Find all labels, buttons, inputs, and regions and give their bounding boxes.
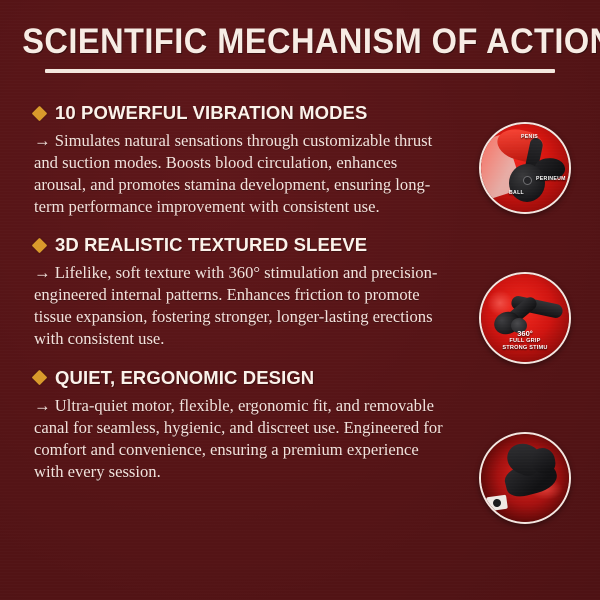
feature-list: 10 POWERFUL VIBRATION MODES → Simulates … <box>34 102 454 483</box>
product-photo-2: 360° FULL GRIP STRONG STIMU <box>479 272 571 364</box>
feature-body-3: → Ultra-quiet motor, flexible, ergonomic… <box>34 395 446 483</box>
feature-heading-row-1: 10 POWERFUL VIBRATION MODES <box>34 102 454 124</box>
arrow-icon-3: → <box>34 396 51 415</box>
feature-body-text-1: Simulates natural sensations through cus… <box>34 131 432 216</box>
photo-label-right: PERINEUM <box>536 176 566 182</box>
title-underline <box>45 69 555 73</box>
feature-item-2: 3D REALISTIC TEXTURED SLEEVE → Lifelike,… <box>34 234 454 350</box>
product-photo-1-artwork: PENIS BALL PERINEUM <box>481 124 569 212</box>
feature-title-3: QUIET, ERGONOMIC DESIGN <box>55 367 314 389</box>
feature-item-3: QUIET, ERGONOMIC DESIGN → Ultra-quiet mo… <box>34 367 454 483</box>
feature-item-1: 10 POWERFUL VIBRATION MODES → Simulates … <box>34 102 454 218</box>
photo-label-bottom-left: BALL <box>509 190 524 196</box>
photo-label-top: PENIS <box>521 134 538 140</box>
diamond-bullet-icon <box>32 105 48 121</box>
product-photo-2-artwork: 360° FULL GRIP STRONG STIMU <box>481 274 569 362</box>
photo-caption-line-2: FULL GRIP <box>481 338 569 345</box>
product-photo-1: PENIS BALL PERINEUM <box>479 122 571 214</box>
photo-caption-line-3: STRONG STIMU <box>481 345 569 352</box>
feature-body-text-3: Ultra-quiet motor, flexible, ergonomic f… <box>34 396 443 481</box>
arrow-icon-1: → <box>34 131 51 150</box>
feature-heading-row-3: QUIET, ERGONOMIC DESIGN <box>34 367 454 389</box>
feature-title-1: 10 POWERFUL VIBRATION MODES <box>55 102 367 124</box>
diamond-bullet-icon <box>32 370 48 386</box>
product-feature-poster: SCIENTIFIC MECHANISM OF ACTION 10 POWERF… <box>0 0 600 600</box>
accessory-shape <box>486 495 508 512</box>
product-photo-3-artwork <box>481 434 569 522</box>
page-title: SCIENTIFIC MECHANISM OF ACTION <box>22 24 600 66</box>
product-image-column: PENIS BALL PERINEUM 360° FULL GRIP STRON… <box>479 100 579 560</box>
product-photo-3 <box>479 432 571 524</box>
feature-body-1: → Simulates natural sensations through c… <box>34 130 446 218</box>
photo-caption-2: 360° FULL GRIP STRONG STIMU <box>481 329 569 352</box>
arrow-icon-2: → <box>34 263 51 282</box>
feature-body-2: → Lifelike, soft texture with 360° stimu… <box>34 262 446 350</box>
feature-body-text-2: Lifelike, soft texture with 360° stimula… <box>34 263 437 348</box>
power-button-icon <box>523 176 532 185</box>
diamond-bullet-icon <box>32 237 48 253</box>
feature-title-2: 3D REALISTIC TEXTURED SLEEVE <box>55 234 367 256</box>
poster-header: SCIENTIFIC MECHANISM OF ACTION <box>0 24 600 73</box>
photo-caption-line-1: 360° <box>481 329 569 338</box>
feature-heading-row-2: 3D REALISTIC TEXTURED SLEEVE <box>34 234 454 256</box>
